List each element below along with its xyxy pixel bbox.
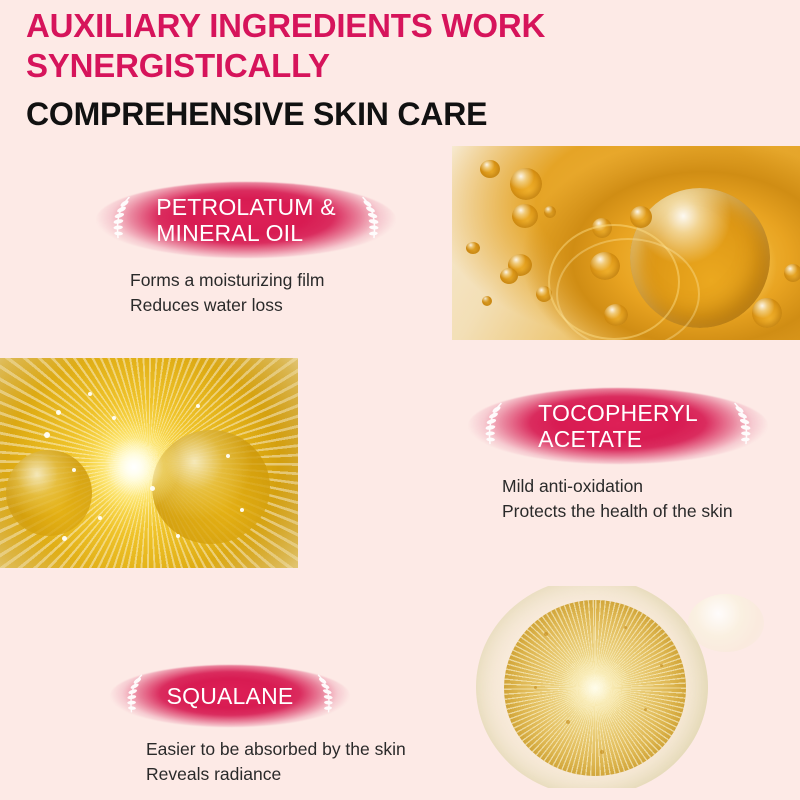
headline-primary: AUXILIARY INGREDIENTS WORK SYNERGISTICAL… [26, 6, 766, 85]
serum-speck [644, 708, 647, 711]
photo-oil-bubbles [452, 146, 800, 340]
oil-droplet [480, 160, 500, 178]
serum-speck [566, 720, 570, 724]
oil-droplet [466, 242, 480, 254]
ingredient-name: TOCOPHERYL ACETATE [538, 400, 698, 452]
serum-speck [534, 686, 537, 689]
serum-core [561, 654, 629, 722]
laurel-wreath-icon [312, 673, 336, 720]
ingredient-badge: SQUALANE [110, 665, 350, 727]
laurel-wreath-icon [482, 401, 508, 452]
ingredient-squalane: SQUALANE Easier to be absorbed by the sk… [110, 665, 406, 787]
oil-droplet [512, 204, 538, 228]
serum-speck [600, 750, 604, 754]
oil-droplet [510, 168, 542, 200]
photo-serum-dish [452, 586, 776, 788]
ingredient-description: Forms a moisturizing film Reduces water … [130, 268, 396, 318]
ingredient-badge: PETROLATUM & MINERAL OIL [96, 182, 396, 258]
oil-droplet [482, 296, 492, 306]
serum-speck [624, 626, 627, 629]
oil-droplet [500, 268, 518, 284]
oil-droplet [544, 206, 556, 218]
laurel-wreath-icon [728, 401, 754, 452]
oil-droplet [752, 298, 782, 328]
serum-bubble-cluster [688, 594, 764, 652]
oil-swirl [556, 238, 700, 340]
serum-pool [504, 600, 686, 776]
oil-droplet [784, 264, 800, 282]
serum-speck [660, 664, 663, 667]
ingredient-description: Mild anti-oxidation Protects the health … [502, 474, 768, 524]
headline-block: AUXILIARY INGREDIENTS WORK SYNERGISTICAL… [26, 6, 766, 134]
laurel-wreath-icon [110, 195, 136, 246]
laurel-wreath-icon [356, 195, 382, 246]
laurel-wreath-icon [124, 673, 148, 720]
oil-droplet [630, 206, 652, 228]
ingredient-name: PETROLATUM & MINERAL OIL [156, 194, 336, 246]
ingredient-name: SQUALANE [167, 683, 294, 709]
ingredient-tocopheryl-acetate: TOCOPHERYL ACETATE Mild anti-oxidation P… [468, 388, 768, 524]
ingredient-badge: TOCOPHERYL ACETATE [468, 388, 768, 464]
photo-gold-burst [0, 358, 298, 568]
serum-speck [544, 632, 548, 636]
glass-rim [0, 358, 298, 568]
ingredient-description: Easier to be absorbed by the skin Reveal… [146, 737, 406, 787]
ingredient-petrolatum: PETROLATUM & MINERAL OIL Forms a moistur… [96, 182, 396, 318]
headline-secondary: COMPREHENSIVE SKIN CARE [26, 95, 766, 133]
